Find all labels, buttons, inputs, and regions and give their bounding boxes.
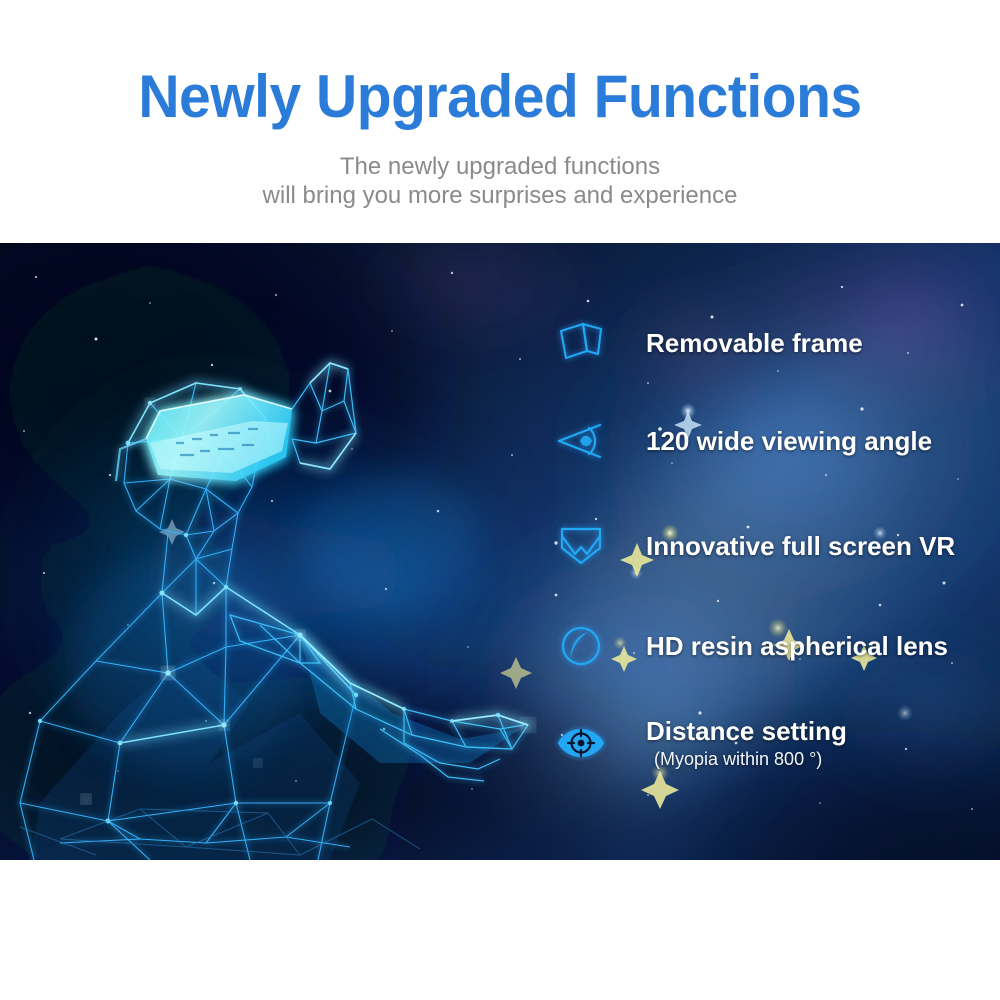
feature-text-block: 120 wide viewing angle <box>646 426 932 456</box>
feature-item-distance-setting[interactable]: Distance setting (Myopia within 800 °) <box>540 715 1000 771</box>
feature-text-block: Innovative full screen VR <box>646 531 955 561</box>
feature-text-block: Distance setting (Myopia within 800 °) <box>646 716 847 770</box>
aspherical-lens-icon <box>552 620 610 672</box>
distance-setting-eye-target-icon <box>552 717 610 769</box>
feature-item-wide-viewing-angle[interactable]: 120 wide viewing angle <box>540 413 1000 469</box>
feature-label: HD resin aspherical lens <box>646 631 948 661</box>
feature-label: Innovative full screen VR <box>646 531 955 561</box>
feature-text-block: Removable frame <box>646 328 863 358</box>
wide-viewing-angle-eye-icon <box>552 415 610 467</box>
feature-label: 120 wide viewing angle <box>646 426 932 456</box>
full-screen-vr-headset-icon <box>552 520 610 572</box>
feature-list: Removable frame 120 wide viewing angle <box>540 243 1000 860</box>
page-subtitle-line-2: will bring you more surprises and experi… <box>0 181 1000 210</box>
feature-text-block: HD resin aspherical lens <box>646 631 948 661</box>
feature-label: Distance setting <box>646 716 847 746</box>
feature-label: Removable frame <box>646 328 863 358</box>
page-title: Newly Upgraded Functions <box>25 62 975 131</box>
feature-item-aspherical-lens[interactable]: HD resin aspherical lens <box>540 618 1000 674</box>
page-subtitle-line-1: The newly upgraded functions <box>0 152 1000 181</box>
feature-item-removable-frame[interactable]: Removable frame <box>540 315 1000 371</box>
removable-frame-icon <box>552 317 610 369</box>
header: Newly Upgraded Functions The newly upgra… <box>0 0 1000 243</box>
feature-sublabel: (Myopia within 800 °) <box>654 750 847 770</box>
feature-item-full-screen-vr[interactable]: Innovative full screen VR <box>540 518 1000 574</box>
footer-whitespace <box>0 860 1000 1000</box>
page-subtitle: The newly upgraded functions will bring … <box>0 152 1000 211</box>
